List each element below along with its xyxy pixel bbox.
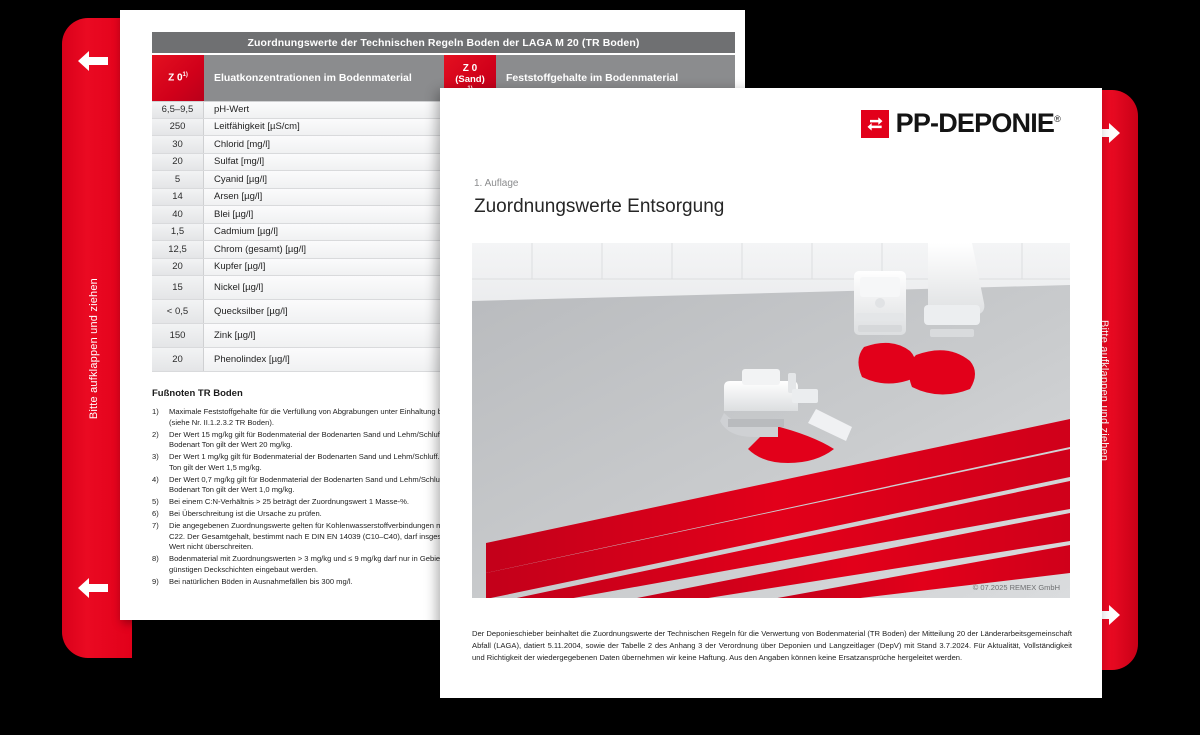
arrow-left-icon xyxy=(76,573,110,603)
cover-card: PP-DEPONIE® 1. Auflage Zuordnungswerte E… xyxy=(440,88,1102,698)
edition-label: 1. Auflage xyxy=(474,178,518,189)
recycle-arrows-icon xyxy=(861,110,889,138)
table-cell-value: 20 xyxy=(152,154,204,171)
table-cell-value: 12,5 xyxy=(152,241,204,258)
landfill-illustration: © 07.2025 REMEX GmbH xyxy=(472,243,1070,598)
brand-logo-text: PP-DEPONIE® xyxy=(896,108,1060,139)
footnote-number: 7) xyxy=(152,521,169,553)
footnote-number: 8) xyxy=(152,554,169,576)
registered-trademark-icon: ® xyxy=(1054,114,1060,124)
screenshot-root: Bitte aufklappen und ziehen Bitte aufkla… xyxy=(0,0,1200,735)
table-cell-value: 40 xyxy=(152,206,204,223)
table-cell-value: 250 xyxy=(152,119,204,136)
table-cell-value: 5 xyxy=(152,171,204,188)
footnote-number: 2) xyxy=(152,430,169,452)
copyright-label: © 07.2025 REMEX GmbH xyxy=(973,583,1060,592)
table-cell-value: 15 xyxy=(152,276,204,299)
footnote-number: 4) xyxy=(152,475,169,497)
table-cell-value: 30 xyxy=(152,136,204,153)
header-z0-value: Z 0 xyxy=(168,72,182,83)
disclaimer-text: Der Deponieschieber beinhaltet die Zuord… xyxy=(472,628,1072,663)
table-cell-value: 20 xyxy=(152,259,204,276)
footnote-number: 9) xyxy=(152,577,169,588)
footnote-number: 3) xyxy=(152,452,169,474)
table-cell-value: 6,5–9,5 xyxy=(152,102,204,118)
brand-logo: PP-DEPONIE® xyxy=(861,108,1060,139)
footnote-number: 5) xyxy=(152,497,169,508)
table-cell-value: 150 xyxy=(152,324,204,347)
footnote-number: 6) xyxy=(152,509,169,520)
header-z0-sand-sub: (Sand) xyxy=(455,75,485,86)
page-title: Zuordnungswerte Entsorgung xyxy=(474,196,724,218)
header-z0-footnote: 1) xyxy=(183,72,188,78)
table-title: Zuordnungswerte der Technischen Regeln B… xyxy=(152,32,735,53)
table-cell-value: 14 xyxy=(152,189,204,206)
pull-tab-left-label: Bitte aufklappen und ziehen xyxy=(88,278,100,419)
table-cell-value: 1,5 xyxy=(152,224,204,241)
header-eluat-label: Eluatkonzentrationen im Bodenmaterial xyxy=(204,55,444,101)
header-z0-eluat: Z 01) xyxy=(152,55,204,101)
table-cell-value: 20 xyxy=(152,348,204,371)
table-cell-value: < 0,5 xyxy=(152,300,204,323)
footnote-number: 1) xyxy=(152,407,169,429)
arrow-left-icon xyxy=(76,46,110,76)
